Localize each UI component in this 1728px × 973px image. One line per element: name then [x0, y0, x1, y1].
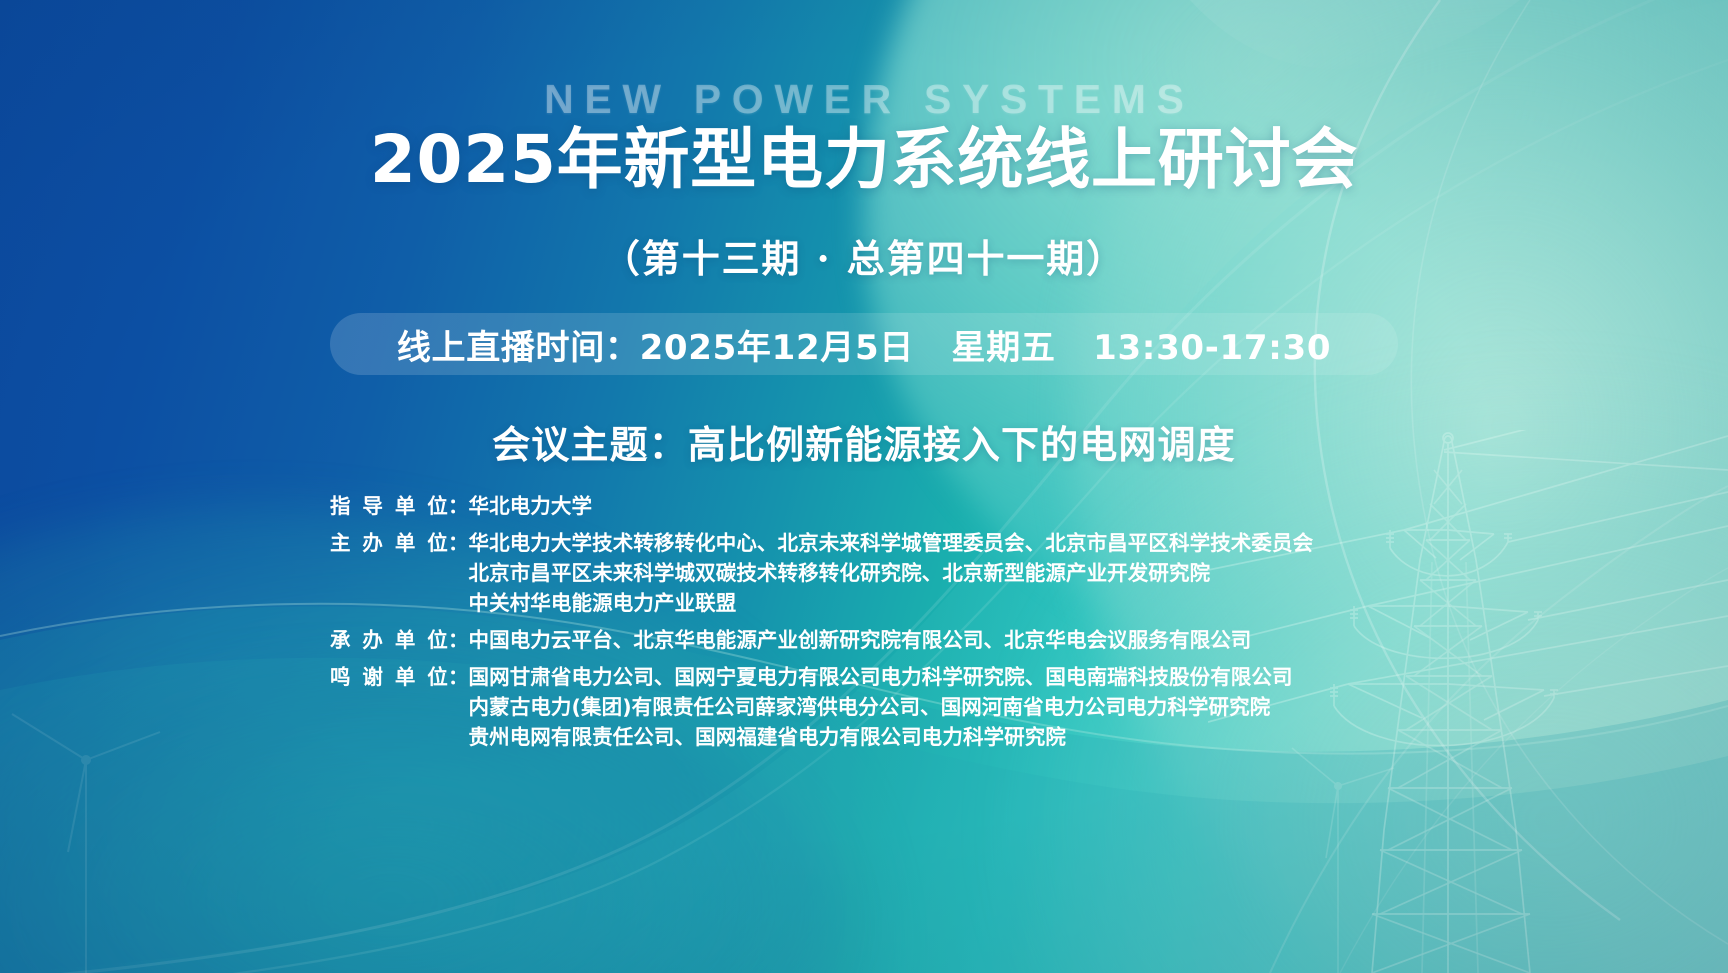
organization-value: 北京市昌平区未来科学城双碳技术转移转化研究院、北京新型能源产业开发研究院 — [469, 563, 1431, 584]
poster-content: NEW POWER SYSTEMS 2025年新型电力系统线上研讨会 （第十三期… — [0, 0, 1728, 973]
organization-row: 主办单位：华北电力大学技术转移转化中心、北京未来科学城管理委员会、北京市昌平区科… — [330, 533, 1430, 563]
live-time-text: 线上直播时间：2025年12月5日 星期五 13:30-17:30 — [397, 320, 1331, 369]
organization-group: 鸣谢单位：国网甘肃省电力公司、国网宁夏电力有限公司电力科学研究院、国电南瑞科技股… — [330, 667, 1430, 757]
organization-value: 贵州电网有限责任公司、国网福建省电力有限公司电力科学研究院 — [469, 727, 1431, 748]
organization-colon: ： — [448, 533, 469, 554]
organization-value: 华北电力大学 — [469, 496, 1431, 517]
page-title: 2025年新型电力系统线上研讨会 — [0, 122, 1728, 198]
organization-group: 承办单位：中国电力云平台、北京华电能源产业创新研究院有限公司、北京华电会议服务有… — [330, 630, 1430, 660]
organization-row: 鸣谢单位：国网甘肃省电力公司、国网宁夏电力有限公司电力科学研究院、国电南瑞科技股… — [330, 667, 1430, 697]
organization-row: 承办单位：中国电力云平台、北京华电能源产业创新研究院有限公司、北京华电会议服务有… — [330, 630, 1430, 660]
organization-row: 鸣谢单位：内蒙古电力(集团)有限责任公司薛家湾供电分公司、国网河南省电力公司电力… — [330, 697, 1430, 727]
organization-list: 指导单位：华北电力大学主办单位：华北电力大学技术转移转化中心、北京未来科学城管理… — [330, 496, 1430, 764]
organization-colon: ： — [448, 496, 469, 517]
organization-row: 指导单位：华北电力大学 — [330, 496, 1430, 526]
organization-row: 主办单位：中关村华电能源电力产业联盟 — [330, 593, 1430, 623]
organization-label: 承办单位 — [330, 630, 448, 651]
organization-value: 内蒙古电力(集团)有限责任公司薛家湾供电分公司、国网河南省电力公司电力科学研究院 — [469, 697, 1431, 718]
poster-subtitle: （第十三期 · 总第四十一期） — [0, 228, 1728, 283]
organization-value: 华北电力大学技术转移转化中心、北京未来科学城管理委员会、北京市昌平区科学技术委员… — [469, 533, 1431, 554]
organization-label: 指导单位 — [330, 496, 448, 517]
live-time-banner: 线上直播时间：2025年12月5日 星期五 13:30-17:30 — [330, 313, 1398, 375]
organization-value: 国网甘肃省电力公司、国网宁夏电力有限公司电力科学研究院、国电南瑞科技股份有限公司 — [469, 667, 1431, 688]
organization-group: 主办单位：华北电力大学技术转移转化中心、北京未来科学城管理委员会、北京市昌平区科… — [330, 533, 1430, 623]
organization-value: 中关村华电能源电力产业联盟 — [469, 593, 1431, 614]
organization-label: 主办单位 — [330, 533, 448, 554]
organization-row: 鸣谢单位：贵州电网有限责任公司、国网福建省电力有限公司电力科学研究院 — [330, 727, 1430, 757]
poster-kicker: NEW POWER SYSTEMS — [0, 76, 1728, 123]
organization-group: 指导单位：华北电力大学 — [330, 496, 1430, 526]
organization-label: 鸣谢单位 — [330, 667, 448, 688]
conference-theme: 会议主题：高比例新能源接入下的电网调度 — [0, 414, 1728, 469]
organization-colon: ： — [448, 630, 469, 651]
organization-value: 中国电力云平台、北京华电能源产业创新研究院有限公司、北京华电会议服务有限公司 — [469, 630, 1431, 651]
poster-canvas: NEW POWER SYSTEMS 2025年新型电力系统线上研讨会 （第十三期… — [0, 0, 1728, 973]
organization-row: 主办单位：北京市昌平区未来科学城双碳技术转移转化研究院、北京新型能源产业开发研究… — [330, 563, 1430, 593]
organization-colon: ： — [448, 667, 469, 688]
